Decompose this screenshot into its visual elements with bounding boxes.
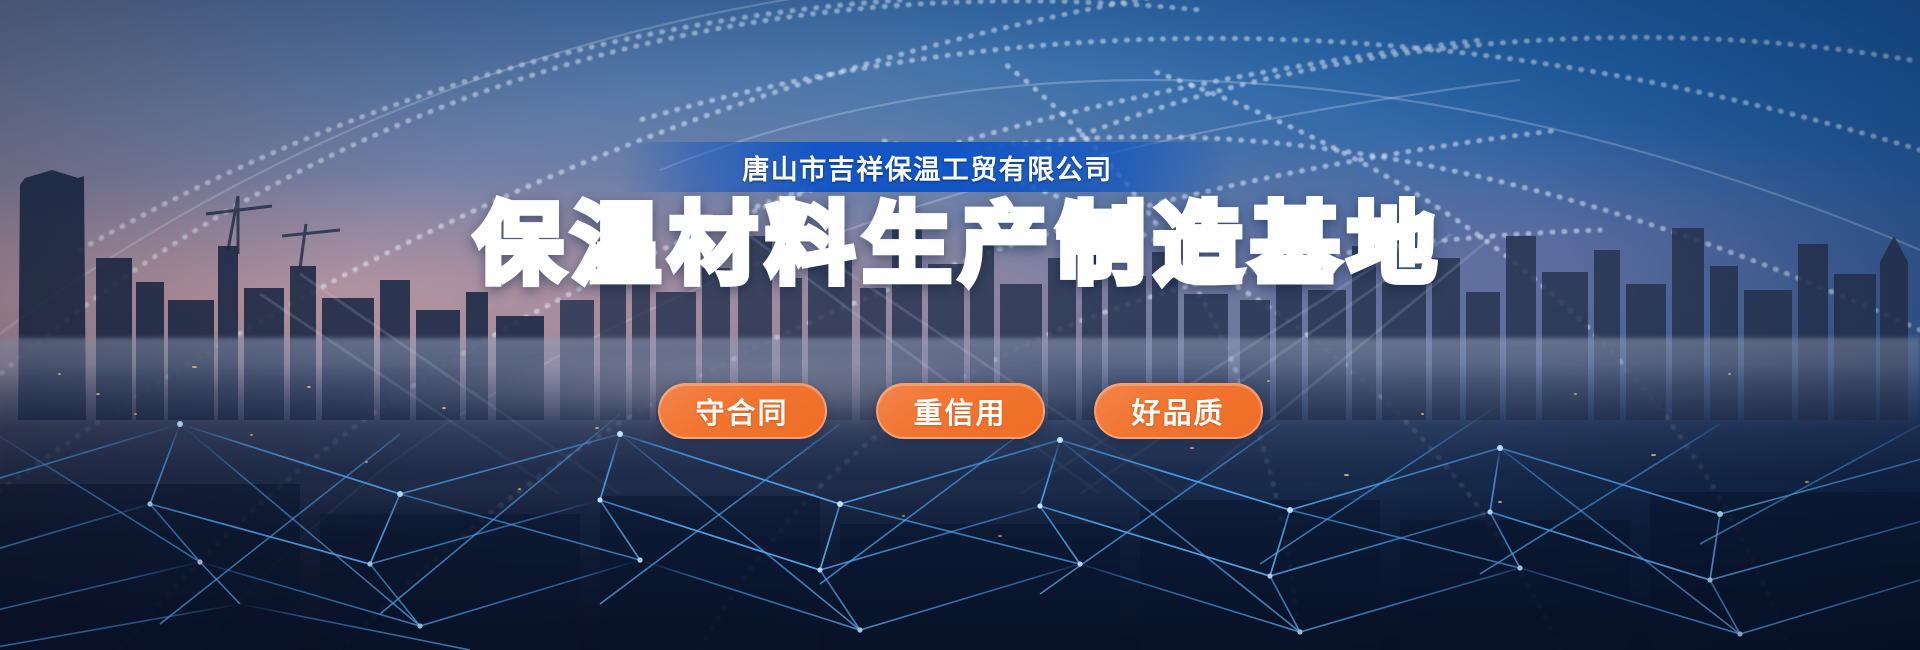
hero-banner: 唐山市吉祥保温工贸有限公司 保温材料生产制造基地 守合同 重信用 好品质 [0, 0, 1920, 650]
badge-label: 守合同 [695, 390, 788, 432]
company-name-bar: 唐山市吉祥保温工贸有限公司 [620, 142, 1235, 192]
badge-label: 重信用 [913, 390, 1006, 432]
badge-hao-pin-zhi[interactable]: 好品质 [1094, 383, 1263, 439]
badge-group: 守合同 重信用 好品质 [0, 383, 1920, 439]
badge-label: 好品质 [1131, 390, 1224, 432]
company-name-text: 唐山市吉祥保温工贸有限公司 [742, 148, 1113, 187]
badge-zhong-xin-yong[interactable]: 重信用 [876, 383, 1045, 439]
headline-block: 保温材料生产制造基地 [0, 192, 1920, 298]
banner-content: 唐山市吉祥保温工贸有限公司 保温材料生产制造基地 守合同 重信用 好品质 [0, 0, 1920, 650]
headline-text: 保温材料生产制造基地 [475, 192, 1445, 298]
badge-shou-he-tong[interactable]: 守合同 [658, 383, 827, 439]
